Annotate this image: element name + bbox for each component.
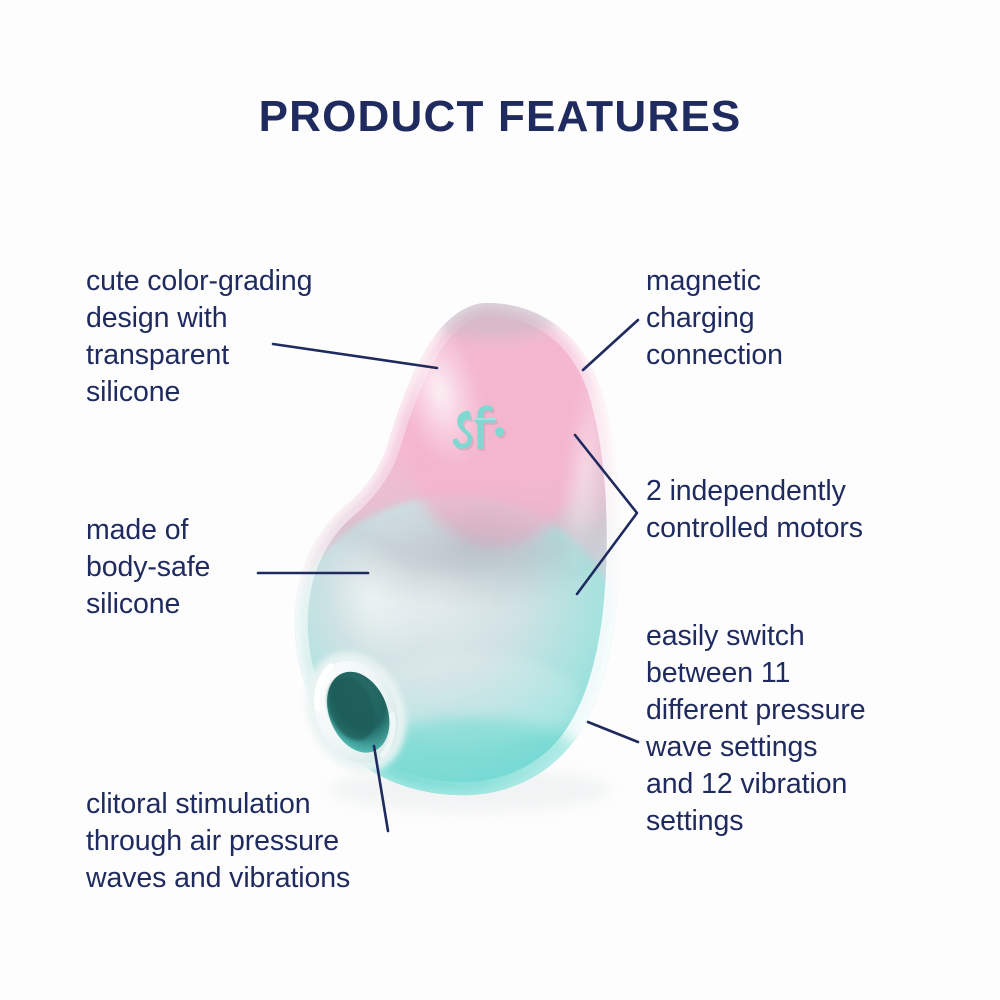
callout-settings-text: easily switch between 11 different press…: [646, 618, 956, 840]
callout-clitoral-text: clitoral stimulation through air pressur…: [86, 786, 416, 897]
infographic-page: PRODUCT FEATURES: [0, 0, 1000, 1000]
leader-magnetic: [583, 320, 638, 370]
callout-motors-text: 2 independently controlled motors: [646, 473, 956, 547]
callout-magnetic-text: magnetic charging connection: [646, 263, 946, 374]
leader-settings: [588, 722, 638, 742]
callout-design-text: cute color-grading design with transpare…: [86, 263, 386, 411]
callout-body-safe-text: made of body-safe silicone: [86, 512, 376, 623]
